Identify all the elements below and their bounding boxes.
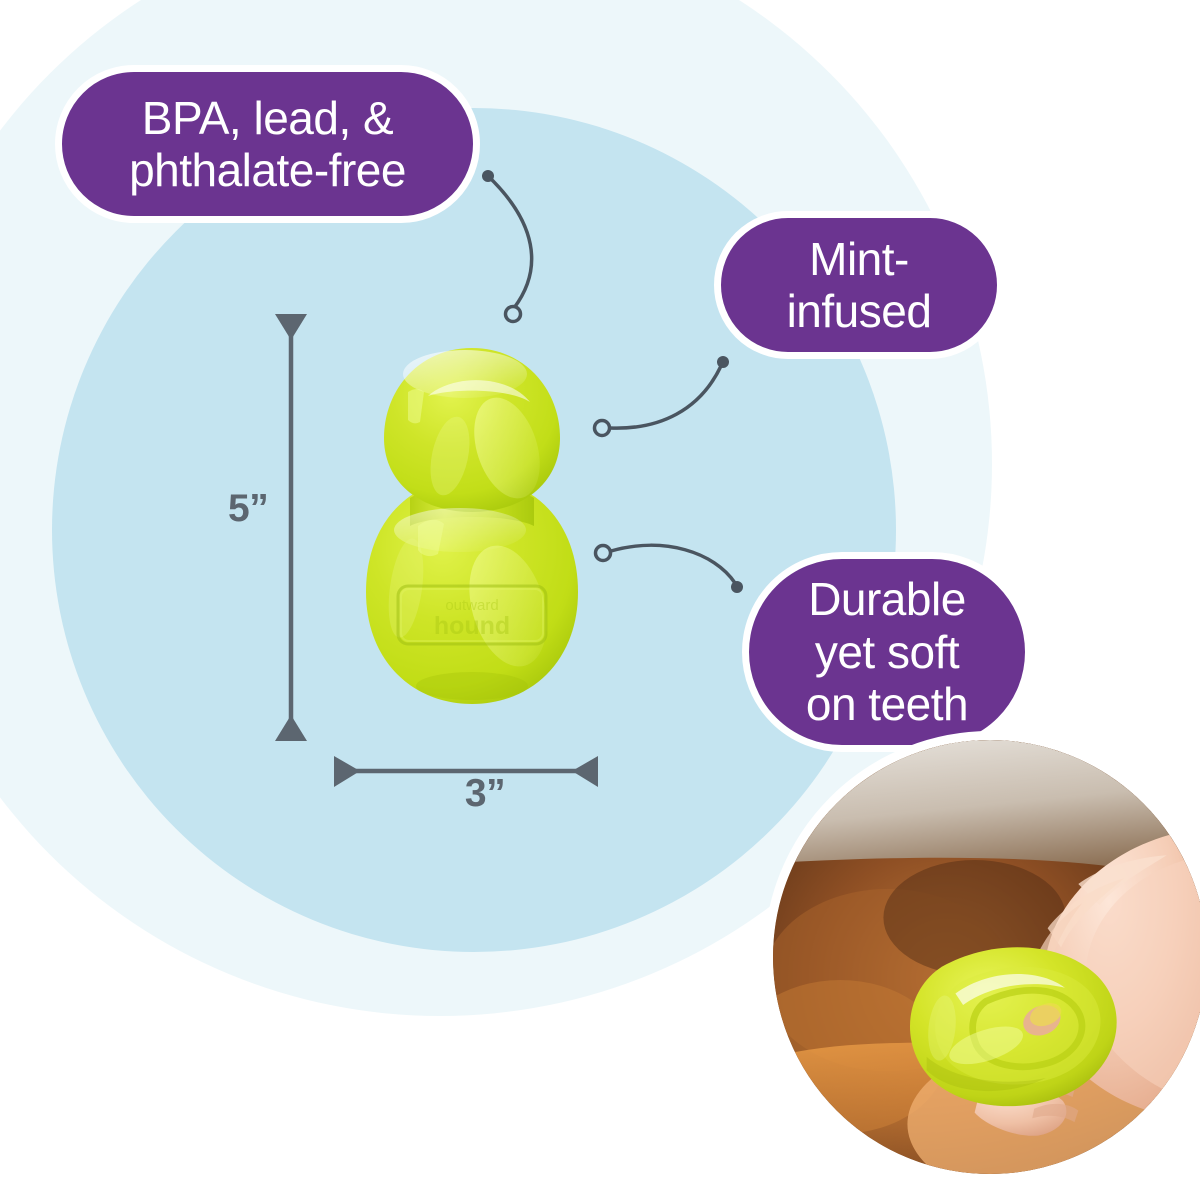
product-toy-image: outward hound <box>332 330 612 730</box>
hand-squeezing-toy-photo <box>773 740 1200 1174</box>
svg-text:hound: hound <box>434 612 510 640</box>
feature-badge-bpa-lead-phthalate-free[interactable]: BPA, lead, & phthalate-free <box>55 65 480 223</box>
feature-badge-bpa-label: BPA, lead, & phthalate-free <box>125 92 410 197</box>
lifestyle-photo-inset <box>764 731 1200 1183</box>
height-dimension-label: 5” <box>228 487 268 531</box>
feature-badge-mint-label: Mint- infused <box>783 233 936 338</box>
feature-badge-durable-label: Durable yet soft on teeth <box>802 573 972 730</box>
infographic-canvas: outward hound 5” 3” BPA, lead, <box>0 0 1200 1200</box>
width-dimension-label: 3” <box>440 772 530 816</box>
feature-badge-durable-yet-soft-on-teeth[interactable]: Durable yet soft on teeth <box>742 552 1032 752</box>
feature-badge-mint-infused[interactable]: Mint- infused <box>714 211 1004 359</box>
